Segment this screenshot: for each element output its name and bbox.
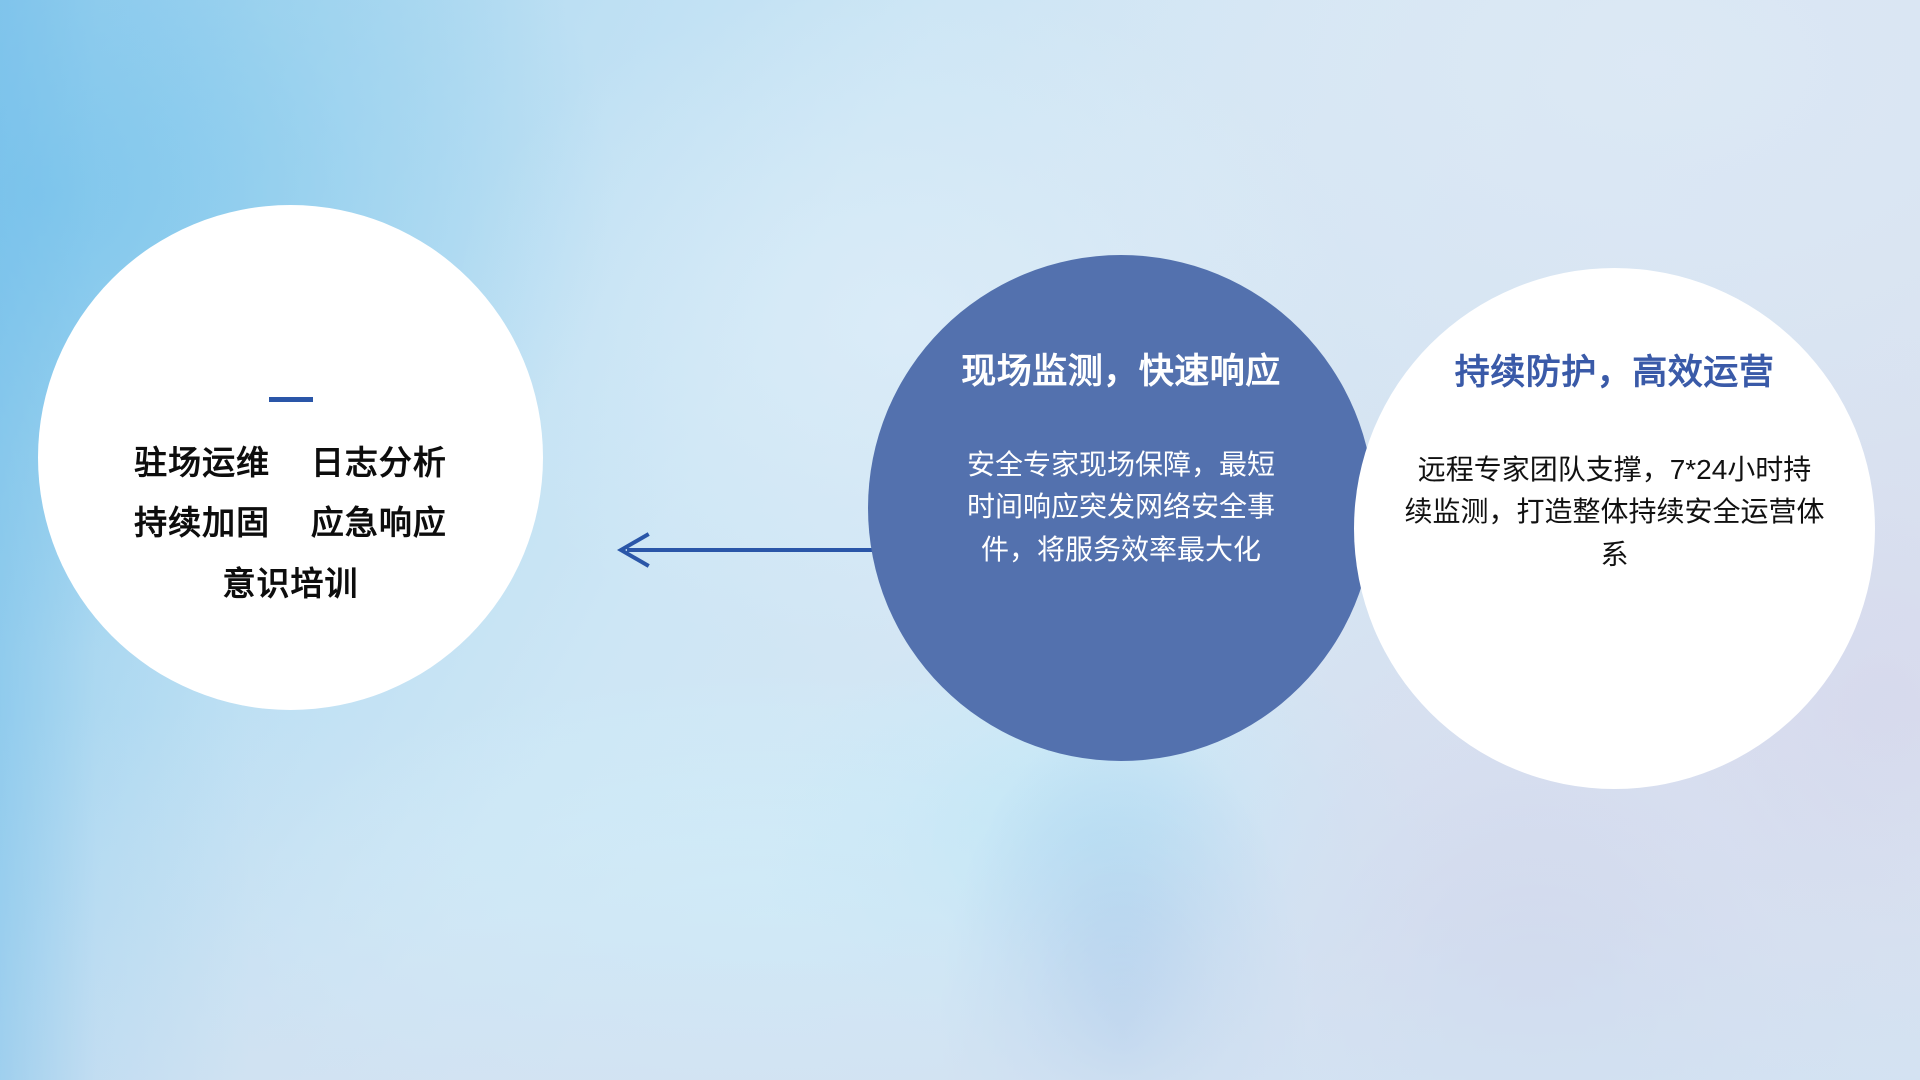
left-circle-content: 驻场运维 日志分析 持续加固 应急响应 意识培训 [38, 205, 543, 710]
left-circle-line-3: 意识培训 [223, 567, 359, 600]
right-circle-body: 远程专家团队支撑，7*24小时持续监测，打造整体持续安全运营体系 [1405, 449, 1825, 577]
center-circle-content: 现场监测，快速响应 安全专家现场保障，最短时间响应突发网络安全事件，将服务效率最… [868, 255, 1374, 761]
center-circle-body: 安全专家现场保障，最短时间响应突发网络安全事件，将服务效率最大化 [966, 444, 1276, 572]
left-circle-line-1: 驻场运维 日志分析 [134, 446, 447, 479]
dash-divider [269, 397, 313, 402]
slide-canvas: 驻场运维 日志分析 持续加固 应急响应 意识培训 现场监测，快速响应 安全专家现… [0, 0, 1920, 1080]
center-circle-heading: 现场监测，快速响应 [961, 353, 1281, 392]
left-circle-line-2: 持续加固 应急响应 [134, 506, 447, 539]
right-circle-content: 持续防护，高效运营 远程专家团队支撑，7*24小时持续监测，打造整体持续安全运营… [1354, 268, 1875, 789]
right-circle-heading: 持续防护，高效运营 [1455, 354, 1775, 393]
arrow-left-svg [605, 520, 885, 580]
arrow-left-icon [605, 520, 885, 580]
